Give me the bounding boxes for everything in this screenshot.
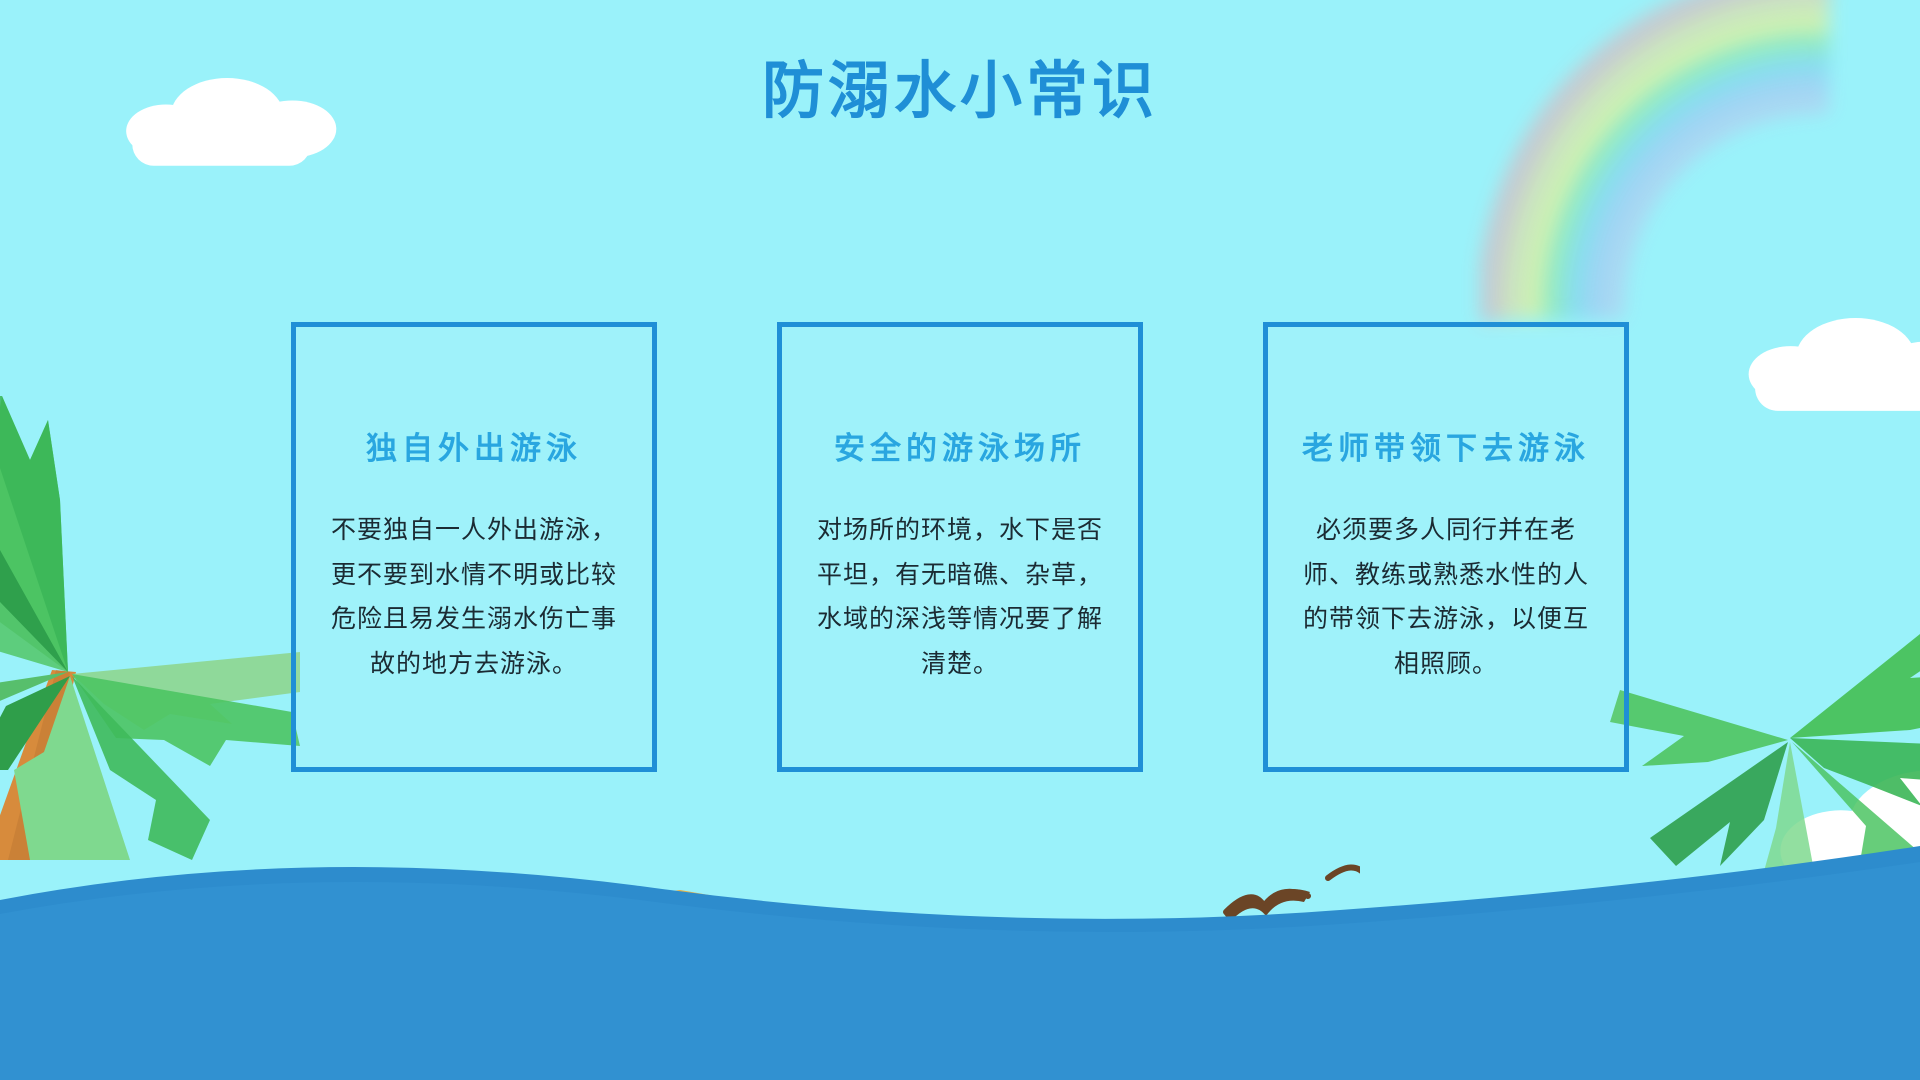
tip-card-1-body: 不要独自一人外出游泳，更不要到水情不明或比较危险且易发生溺水伤亡事故的地方去游泳… <box>322 508 626 686</box>
island-and-wave-graphic <box>0 750 1920 1080</box>
tip-card-3-title: 老师带领下去游泳 <box>1302 423 1590 468</box>
tip-card-3-body: 必须要多人同行并在老师、教练或熟悉水性的人的带领下去游泳，以便互相照顾。 <box>1294 508 1598 686</box>
rainbow-icon <box>1480 0 1920 330</box>
tip-card-2-title: 安全的游泳场所 <box>834 423 1086 468</box>
tip-card-3[interactable]: 老师带领下去游泳 必须要多人同行并在老师、教练或熟悉水性的人的带领下去游泳，以便… <box>1263 322 1629 772</box>
tip-card-2[interactable]: 安全的游泳场所 对场所的环境，水下是否平坦，有无暗礁、杂草，水域的深浅等情况要了… <box>777 322 1143 772</box>
bottom-scene <box>0 750 1920 1080</box>
tip-card-1[interactable]: 独自外出游泳 不要独自一人外出游泳，更不要到水情不明或比较危险且易发生溺水伤亡事… <box>291 322 657 772</box>
page-title: 防溺水小常识 <box>0 56 1920 125</box>
tip-card-1-title: 独自外出游泳 <box>366 423 582 468</box>
slide-root: 防溺水小常识 独自外出游泳 不要独自一人外出游泳，更不要到水情不明或比较危险且易… <box>0 0 1920 1080</box>
tip-card-2-body: 对场所的环境，水下是否平坦，有无暗礁、杂草，水域的深浅等情况要了解清楚。 <box>808 508 1112 686</box>
tips-card-group: 独自外出游泳 不要独自一人外出游泳，更不要到水情不明或比较危险且易发生溺水伤亡事… <box>0 322 1920 772</box>
blue-wave-icon <box>0 846 1920 1080</box>
